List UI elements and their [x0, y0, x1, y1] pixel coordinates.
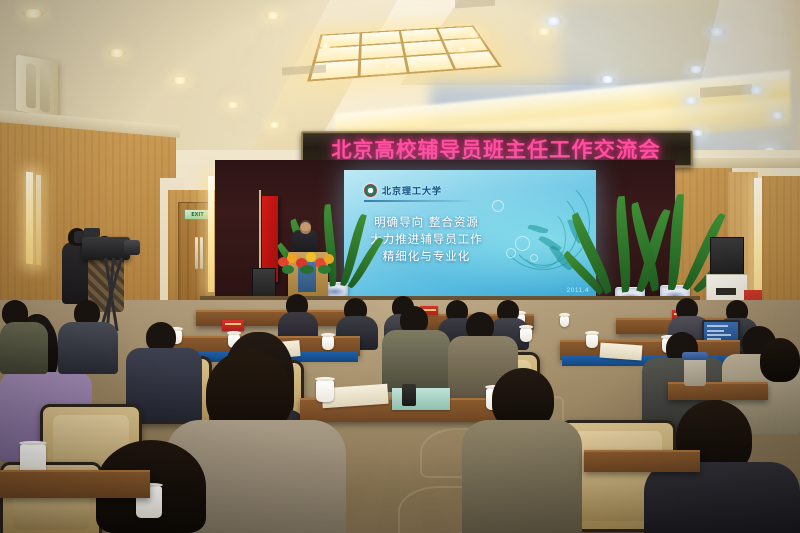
slide-bubble-icon: [530, 254, 538, 262]
downlight: [226, 102, 240, 108]
thermos-lid: [682, 352, 708, 360]
downlight: [265, 12, 281, 19]
downlight: [455, 45, 470, 52]
exit-sign-icon: EXIT: [184, 209, 211, 220]
slide-date: 2011.4: [567, 287, 589, 294]
door-handle[interactable]: [195, 237, 198, 269]
downlight: [318, 43, 333, 49]
slide-bubble-icon: [515, 236, 530, 251]
door-handle[interactable]: [200, 237, 203, 269]
wall-speaker: [16, 54, 58, 117]
slide-line-1: 明确导向 整合资源: [344, 214, 509, 231]
downlight: [466, 32, 480, 38]
downlight: [22, 9, 44, 18]
slide-bubble-icon: [492, 200, 504, 212]
wall-speaker-grille: [40, 67, 50, 113]
tea-cup: [560, 316, 569, 327]
downlight: [268, 122, 281, 128]
table-row: [584, 450, 700, 472]
audience-torso: [58, 322, 118, 374]
audience-torso: [382, 330, 450, 392]
downlight: [770, 112, 785, 119]
audience-torso-front: [462, 420, 582, 533]
downlight: [172, 77, 188, 84]
university-emblem-icon: [364, 184, 377, 197]
audience-torso-front: [644, 462, 800, 533]
table-row: [0, 470, 150, 498]
downlight: [688, 66, 704, 73]
notebook: [392, 388, 450, 410]
downlight: [545, 17, 562, 25]
downlight: [108, 49, 126, 57]
downlight: [536, 28, 552, 35]
wall-speaker-grille: [26, 63, 36, 109]
camera-lens-icon: [124, 240, 140, 255]
conference-hall-photo: EXIT 北京高校辅导员班主任工作交流会 北京理工大学 明确导向 整合资源 大力…: [0, 0, 800, 533]
document-sheet: [600, 343, 643, 361]
mobile-phone[interactable]: [402, 384, 416, 406]
tea-cup: [316, 380, 334, 402]
slide-logo-rule: [364, 200, 476, 202]
tea-cup: [586, 334, 598, 348]
audience-torso: [0, 322, 48, 374]
video-camera-body: [82, 237, 130, 260]
presenter-head: [300, 222, 311, 234]
downlight: [380, 63, 394, 69]
table-row: [196, 310, 356, 326]
slide-bubble-icon: [506, 248, 516, 258]
wall-cove-light-strip: [26, 172, 33, 265]
downlight: [708, 28, 726, 36]
downlight: [683, 97, 699, 104]
wall-cove-light-strip: [36, 175, 41, 266]
slide-organization: 北京理工大学: [382, 184, 442, 197]
loudspeaker-vent: [716, 288, 736, 295]
wall-cove-light-strip: [208, 176, 214, 292]
podium-flower-arrangement: [276, 249, 338, 275]
downlight: [600, 76, 615, 83]
audience-head-front: [760, 338, 800, 382]
table-row: [668, 382, 768, 400]
tea-cup: [520, 328, 532, 342]
projection-screen: 北京理工大学 明确导向 整合资源 大力推进辅导员工作 精细化与专业化 2011.…: [344, 170, 596, 298]
downlight: [748, 86, 765, 94]
slide-logo: 北京理工大学: [364, 184, 442, 197]
slide-line-2: 大力推进辅导员工作: [344, 231, 509, 248]
name-card: [222, 320, 244, 331]
tea-cup: [322, 336, 334, 350]
camera-viewfinder: [84, 228, 100, 237]
thermos-cup: [684, 356, 706, 386]
floor-loudspeaker-right: [710, 237, 744, 279]
